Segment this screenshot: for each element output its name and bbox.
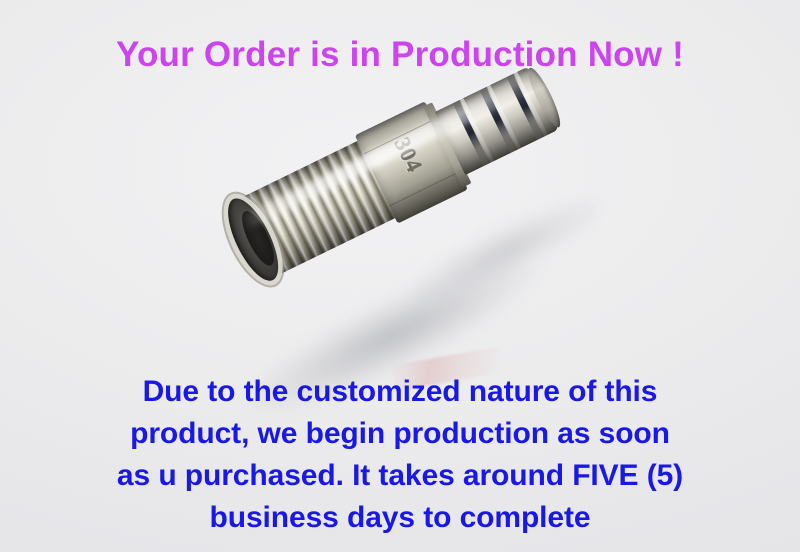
hex-edge <box>423 102 471 187</box>
barb-end-cap <box>524 65 566 130</box>
barb-step-2 <box>486 84 521 150</box>
hose-barb-fitting: 304 <box>211 52 568 292</box>
barb-ridge-2 <box>480 87 517 153</box>
notice-body-text: Due to the customized nature of this pro… <box>0 371 800 539</box>
hex-facet-line-top <box>364 119 435 154</box>
barb-ridge-1 <box>453 100 490 166</box>
order-notice-card: Your Order is in Production Now ! 304 <box>0 0 800 552</box>
specular-highlight <box>239 72 543 231</box>
page-title: Your Order is in Production Now ! <box>0 36 800 75</box>
threaded-section <box>230 137 403 280</box>
barb-ridge-3 <box>507 74 544 140</box>
body-line: product, we begin production as soon <box>0 413 800 455</box>
hex-section <box>355 101 468 223</box>
body-line: business days to complete <box>0 497 800 539</box>
body-line: as u purchased. It takes around FIVE (5) <box>0 455 800 497</box>
hex-facet-line-bottom <box>389 171 460 206</box>
barb-section <box>435 67 559 176</box>
bore-inner <box>236 207 280 270</box>
bore-opening <box>218 192 288 288</box>
body-line: Due to the customized nature of this <box>0 371 800 413</box>
product-shadow-upper <box>401 184 610 317</box>
material-stamp-304: 304 <box>385 127 430 183</box>
barb-step-3 <box>513 71 548 137</box>
barb-step-1 <box>459 97 494 163</box>
